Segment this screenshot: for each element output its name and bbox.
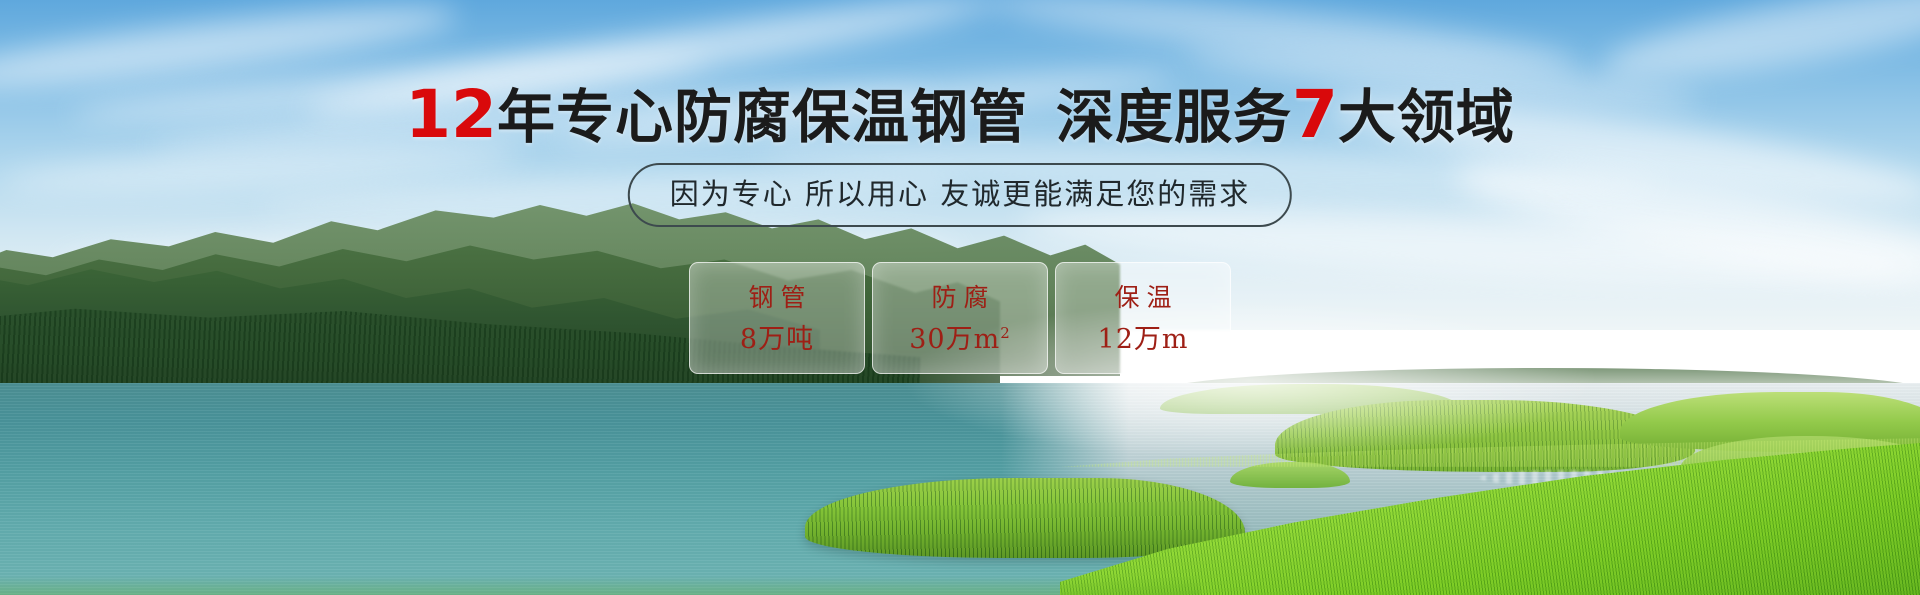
headline-number-accent: 7 (1292, 76, 1338, 153)
stat-card-steel-pipe[interactable]: 钢管 8万吨 (689, 262, 865, 374)
headline-years-accent: 12 (405, 76, 497, 153)
stat-card-label: 钢管 (741, 281, 812, 315)
hero-banner: 12年专心防腐保温钢管深度服务7大领域 因为专心 所以用心 友诚更能满足您的需求… (0, 0, 1920, 595)
headline-segment-3: 大领域 (1338, 83, 1515, 151)
stat-card-group: 钢管 8万吨 防腐 30万m2 保温 12万m (689, 262, 1231, 374)
stat-card-insulation[interactable]: 保温 12万m (1055, 262, 1231, 374)
headline-segment-2: 深度服务 (1056, 83, 1292, 151)
stat-card-value-text: 30万m (909, 324, 1000, 355)
stat-card-value-text: 8万吨 (740, 324, 814, 355)
subtitle-pill: 因为专心 所以用心 友诚更能满足您的需求 (628, 163, 1292, 227)
stat-card-anticorrosion[interactable]: 防腐 30万m2 (872, 262, 1048, 374)
stat-card-value: 12万m (1098, 324, 1189, 356)
headline-segment-1: 年专心防腐保温钢管 (497, 83, 1028, 151)
grass-bottom-shadow (0, 576, 1200, 595)
stat-card-label: 保温 (1107, 281, 1178, 315)
stat-card-value: 8万吨 (740, 324, 814, 356)
stat-card-value: 30万m2 (909, 324, 1011, 356)
stat-card-value-text: 12万m (1098, 324, 1189, 355)
stat-card-label: 防腐 (924, 281, 995, 315)
cloud-wisp-icon (1448, 142, 1920, 308)
cloud-wisp-icon (979, 0, 1580, 85)
stat-card-value-superscript: 2 (1000, 324, 1011, 342)
banner-headline: 12年专心防腐保温钢管深度服务7大领域 (0, 82, 1920, 150)
